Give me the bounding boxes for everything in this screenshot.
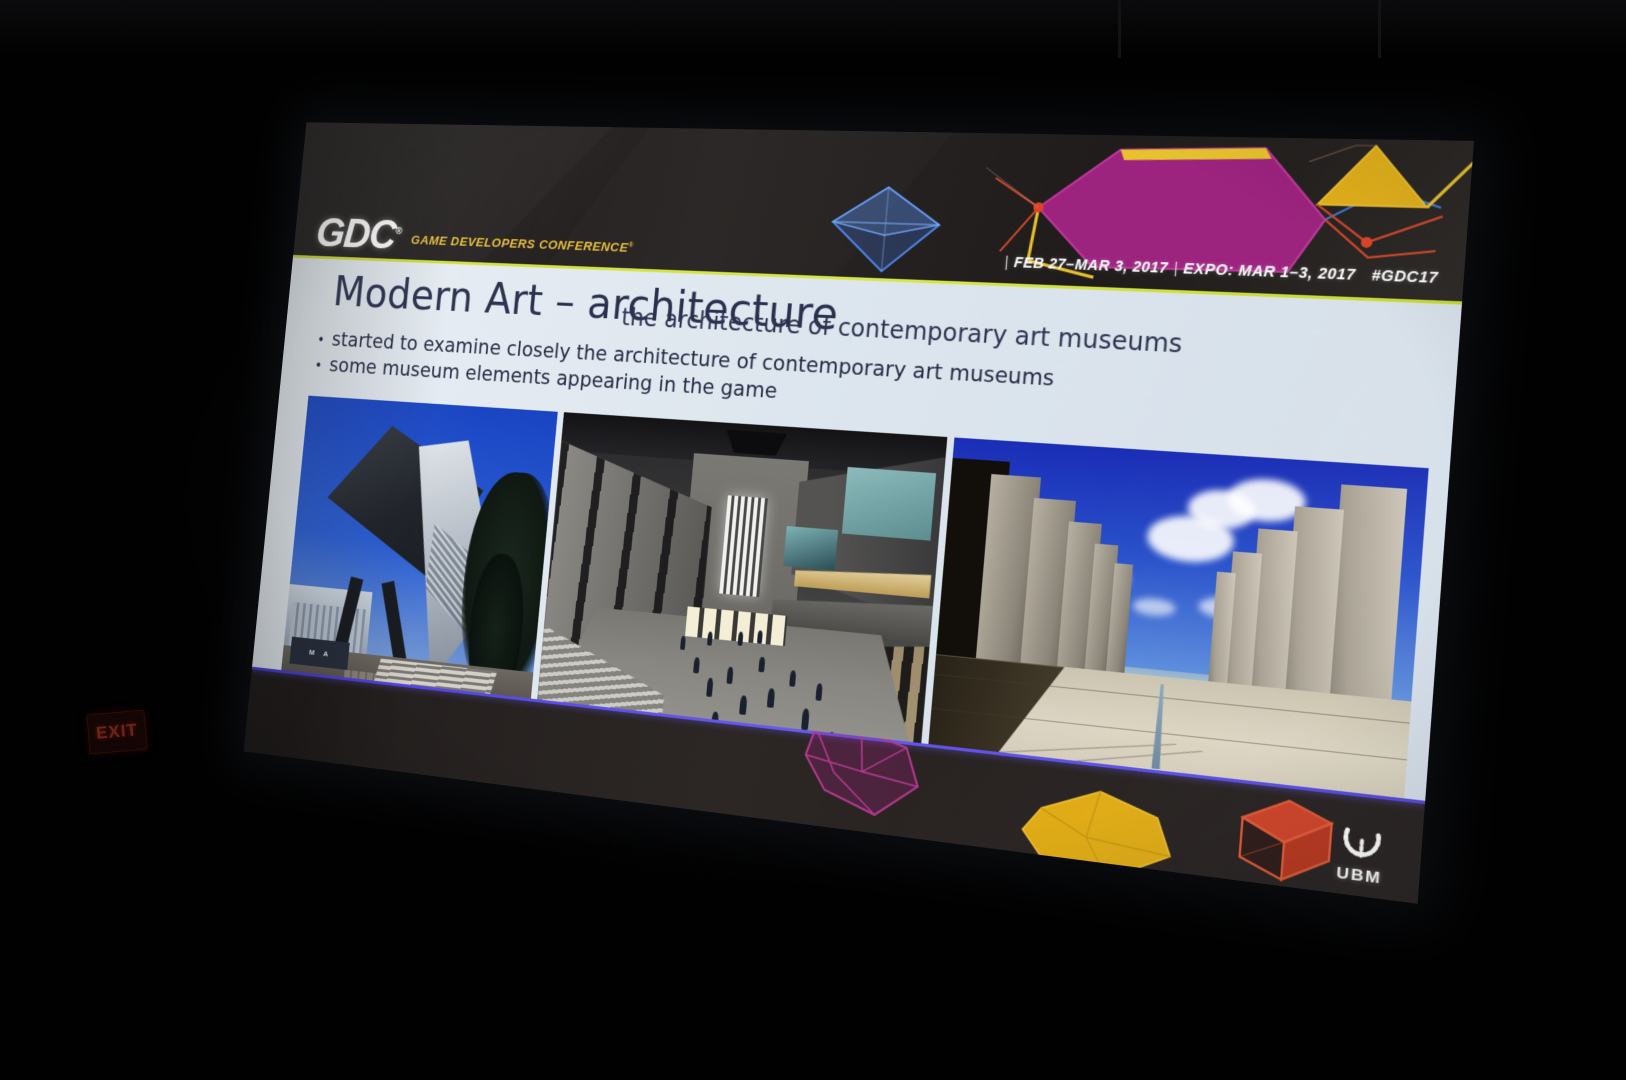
bullet-marker-icon: • [317,334,326,348]
triangle-yellow-icon [1301,138,1474,273]
hashtag: #GDC17 [1355,266,1439,286]
ubm-laurel-icon [1340,825,1382,868]
polygon-yellow-filled-icon [1004,777,1183,890]
gdc-wordmark: GDC® [315,214,403,253]
auditorium-scene: EXIT [0,0,1626,1080]
bullet-marker-icon: • [314,359,323,373]
octahedron-blue-icon [823,182,949,278]
projection-screen: GDC® GAME DEVELOPERS CONFERENCE® |FEB 27… [0,0,1626,1080]
ubm-logo: UBM [1336,825,1385,888]
slide-surface: GDC® GAME DEVELOPERS CONFERENCE® |FEB 27… [244,122,1475,904]
gdc-slide: GDC® GAME DEVELOPERS CONFERENCE® |FEB 27… [244,122,1475,904]
